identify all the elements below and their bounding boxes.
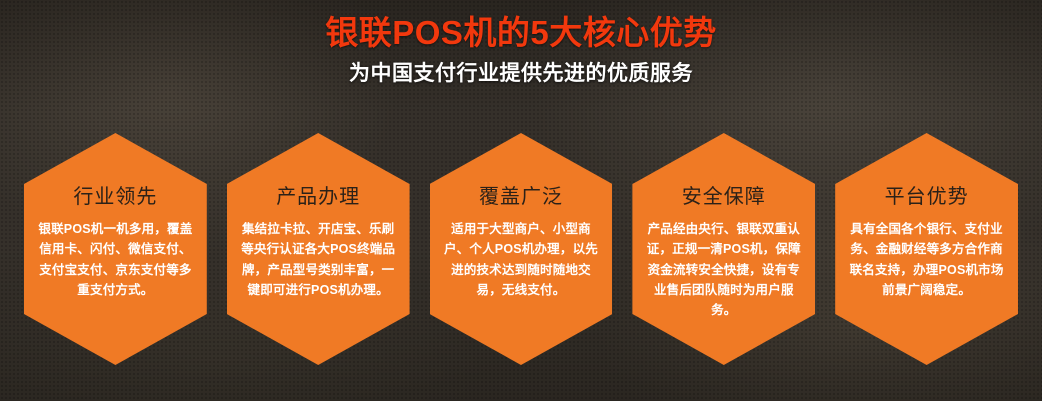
feature-card-description: 具有全国各个银行、支付业务、金融财经等多方合作商联名支持，办理POS机市场前景广… (847, 207, 1006, 300)
feature-card-product-application[interactable]: 产品办理 集结拉卡拉、开店宝、乐刷等央行认证各大POS终端品牌，产品型号类别丰富… (227, 133, 410, 365)
feature-card-title: 安全保障 (682, 133, 766, 207)
banner-header: 银联POS机的5大核心优势 为中国支付行业提供先进的优质服务 (0, 14, 1042, 86)
feature-card-description: 产品经由央行、银联双重认证，正规一清POS机，保障资金流转安全快捷，设有专业售后… (644, 207, 803, 320)
feature-card-description: 银联POS机一机多用，覆盖信用卡、闪付、微信支付、支付宝支付、京东支付等多重支付… (36, 207, 195, 300)
feature-card-description: 集结拉卡拉、开店宝、乐刷等央行认证各大POS终端品牌，产品型号类别丰富，一键即可… (239, 207, 398, 300)
feature-card-title: 产品办理 (276, 133, 360, 207)
page-title: 银联POS机的5大核心优势 (0, 14, 1042, 53)
feature-card-title: 覆盖广泛 (479, 133, 563, 207)
feature-hexagon-row: 行业领先 银联POS机一机多用，覆盖信用卡、闪付、微信支付、支付宝支付、京东支付… (24, 133, 1018, 365)
feature-card-title: 平台优势 (885, 133, 969, 207)
feature-card-platform-advantage[interactable]: 平台优势 具有全国各个银行、支付业务、金融财经等多方合作商联名支持，办理POS机… (835, 133, 1018, 365)
feature-card-industry-leading[interactable]: 行业领先 银联POS机一机多用，覆盖信用卡、闪付、微信支付、支付宝支付、京东支付… (24, 133, 207, 365)
feature-card-security-guarantee[interactable]: 安全保障 产品经由央行、银联双重认证，正规一清POS机，保障资金流转安全快捷，设… (632, 133, 815, 365)
feature-card-title: 行业领先 (73, 133, 157, 207)
feature-card-wide-coverage[interactable]: 覆盖广泛 适用于大型商户、小型商户、个人POS机办理，以先进的技术达到随时随地交… (430, 133, 613, 365)
page-subtitle: 为中国支付行业提供先进的优质服务 (0, 61, 1042, 86)
feature-card-description: 适用于大型商户、小型商户、个人POS机办理，以先进的技术达到随时随地交易，无线支… (442, 207, 601, 300)
promo-banner: 银联POS机的5大核心优势 为中国支付行业提供先进的优质服务 行业领先 银联PO… (0, 0, 1042, 401)
